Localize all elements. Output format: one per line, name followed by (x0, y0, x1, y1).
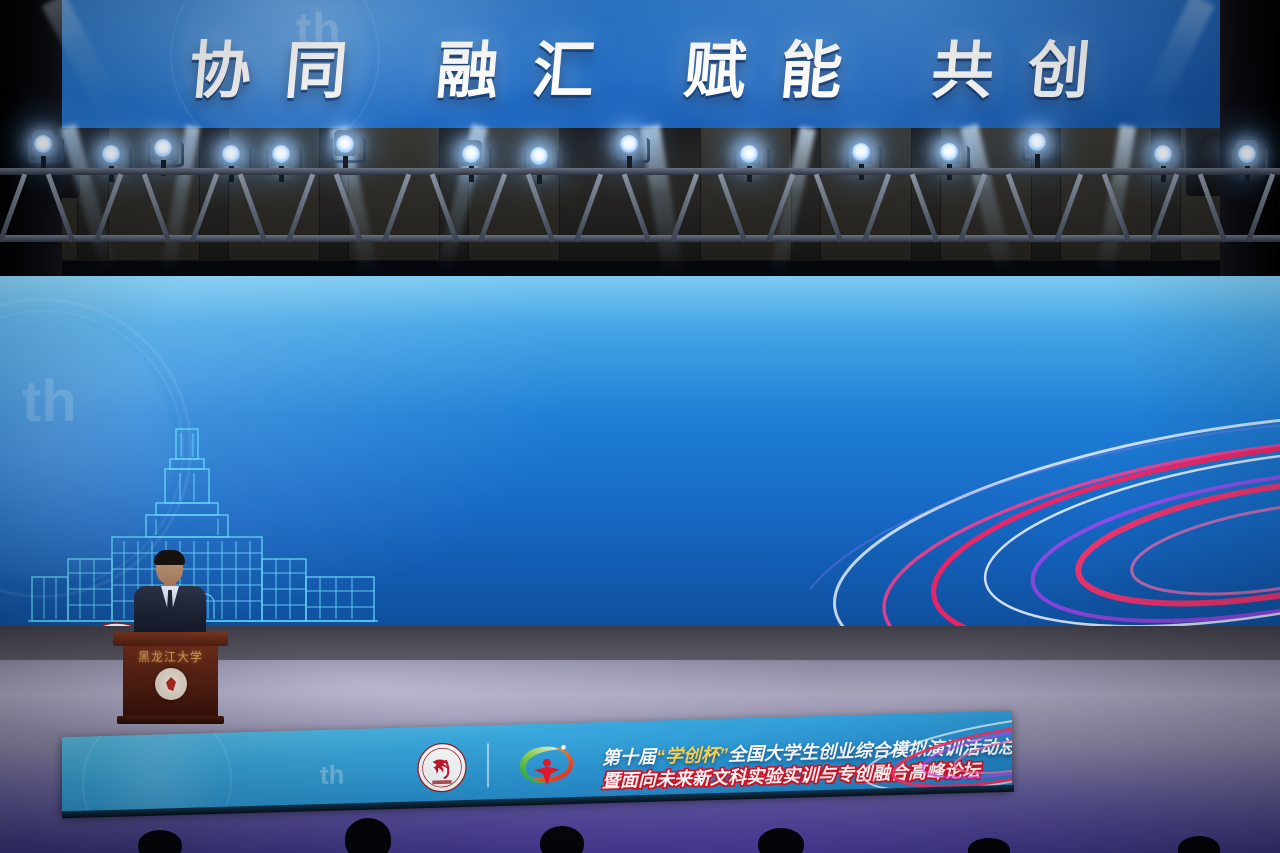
speaker-hair (154, 550, 185, 565)
stage-light-fixture (28, 130, 58, 172)
podium-top (113, 632, 228, 646)
audience-head (540, 826, 584, 853)
podium-label: 黑龙江大学 (123, 648, 218, 665)
speaker-person (130, 552, 210, 636)
light-trail-graphic (852, 712, 1012, 794)
audience-head (138, 830, 182, 853)
stage-light-fixture (330, 130, 360, 172)
truss-structure (0, 168, 1280, 242)
podium: 黑龙江大学 (113, 632, 228, 722)
lighting-truss-rig (0, 116, 1280, 261)
stage-light-fixture (614, 130, 644, 172)
anniversary-watermark-th: th (320, 759, 345, 791)
competition-emblem (512, 741, 582, 789)
audience-head (345, 818, 391, 853)
stage-light-fixture (1022, 128, 1052, 170)
light-trail-graphic (810, 396, 1280, 626)
light-trail-svg (810, 396, 1280, 626)
podium-seal-icon (155, 668, 187, 700)
light-trail-svg (852, 712, 1012, 794)
heilongjiang-university-logo (417, 742, 467, 793)
podium-base (117, 716, 224, 724)
logo-divider (487, 743, 489, 787)
university-seal-svg (417, 742, 467, 793)
emblem-svg (512, 741, 582, 789)
stage-scene: EXIT th 协同 融汇 赋能 共创 (0, 0, 1280, 853)
top-led-screen: th 协同 融汇 赋能 共创 (60, 0, 1220, 128)
audience-head (758, 828, 804, 853)
top-screen-slogan: 协同 融汇 赋能 共创 (60, 20, 1220, 110)
